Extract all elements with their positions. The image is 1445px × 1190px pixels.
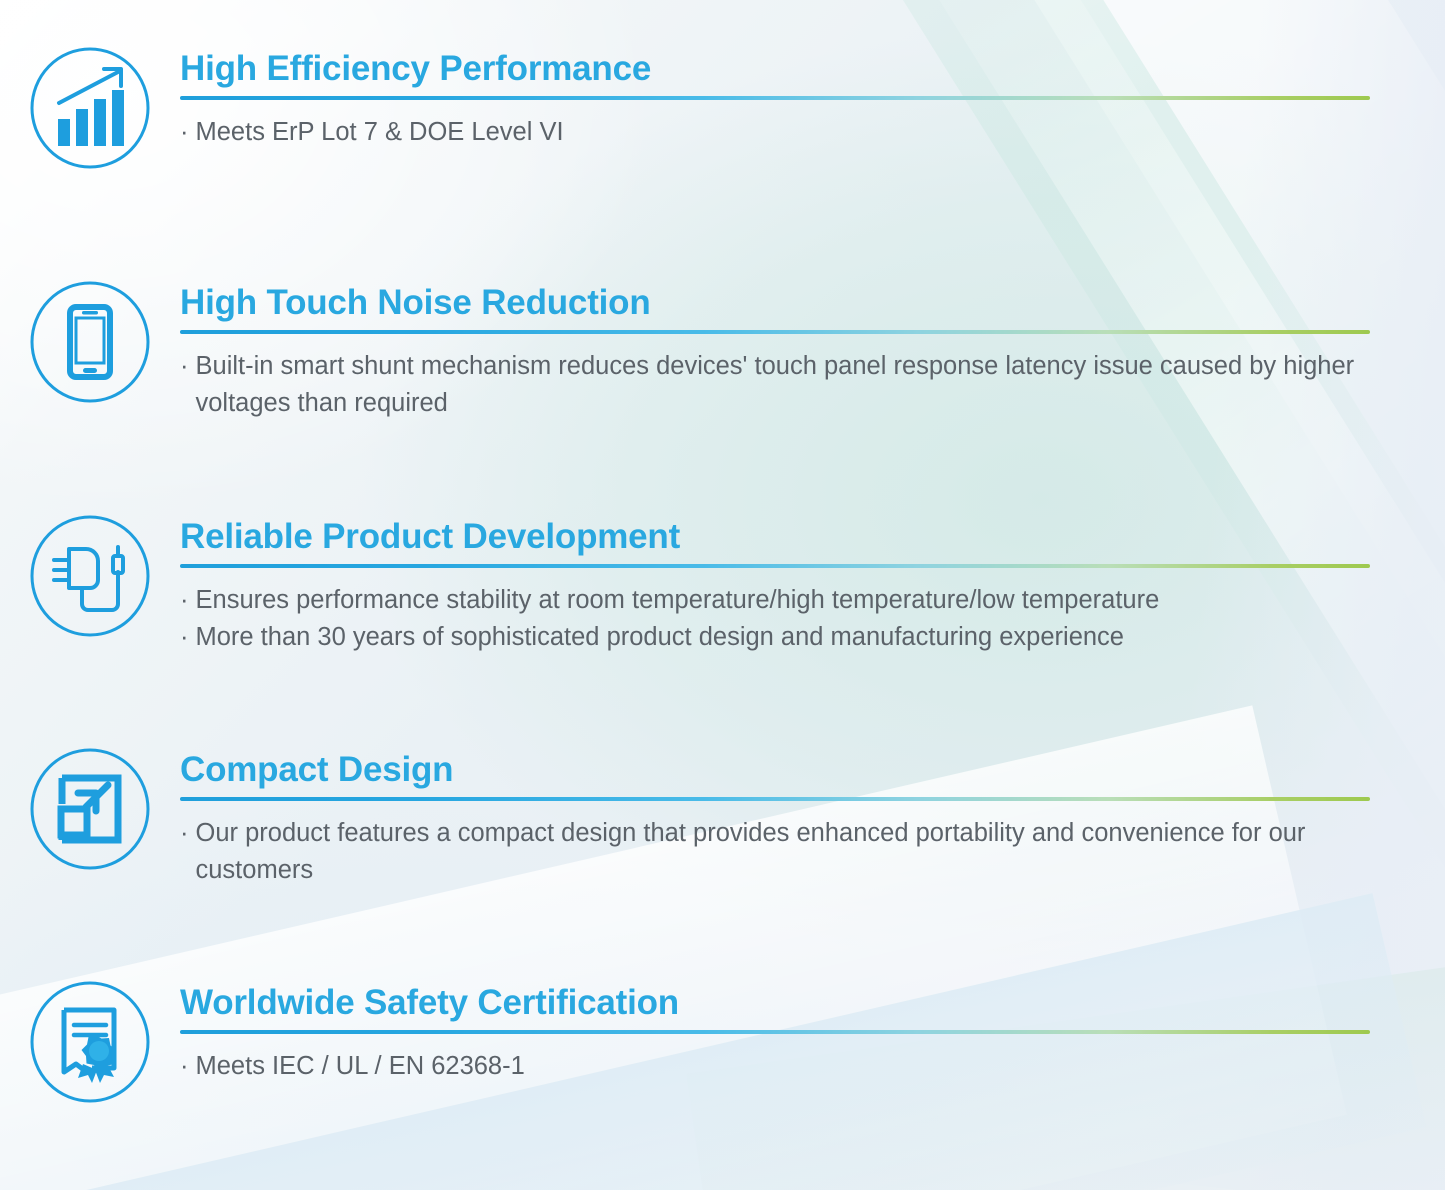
bullet-marker: · [180,582,189,619]
feature-bullets: · Built-in smart shunt mechanism reduces… [180,348,1370,421]
power-adapter-icon [28,514,152,638]
feature-body: Compact Design · Our product features a … [180,745,1445,888]
feature-bullet: · Ensures performance stability at room … [180,582,1370,619]
bullet-text: Ensures performance stability at room te… [196,582,1371,619]
bullet-marker: · [180,114,189,151]
feature-item-worldwide-safety-certification: Worldwide Safety Certification · Meets I… [0,978,1445,1104]
feature-bullet: · Built-in smart shunt mechanism reduces… [180,348,1370,421]
bullet-marker: · [180,619,189,656]
feature-body: Reliable Product Development · Ensures p… [180,512,1445,655]
feature-bullets: · Meets IEC / UL / EN 62368-1 [180,1048,1370,1085]
feature-infographic-page: High Efficiency Performance · Meets ErP … [0,0,1445,1190]
feature-item-reliable-product-development: Reliable Product Development · Ensures p… [0,512,1445,655]
feature-icon-wrap [0,278,180,404]
smartphone-icon [28,280,152,404]
feature-bullet: · Meets IEC / UL / EN 62368-1 [180,1048,1370,1085]
compact-resize-icon [28,747,152,871]
bullet-text: Meets IEC / UL / EN 62368-1 [196,1048,1371,1085]
feature-title: Worldwide Safety Certification [180,984,1370,1022]
feature-divider [180,96,1370,100]
feature-bullet: · More than 30 years of sophisticated pr… [180,619,1370,656]
feature-title: Reliable Product Development [180,518,1370,556]
feature-bullet: · Meets ErP Lot 7 & DOE Level VI [180,114,1370,151]
feature-bullets: · Our product features a compact design … [180,815,1370,888]
feature-title: High Touch Noise Reduction [180,284,1370,322]
bullet-marker: · [180,348,189,385]
feature-body: High Efficiency Performance · Meets ErP … [180,44,1445,151]
feature-bullets: · Meets ErP Lot 7 & DOE Level VI [180,114,1370,151]
feature-item-high-touch-noise-reduction: High Touch Noise Reduction · Built-in sm… [0,278,1445,421]
feature-bullet: · Our product features a compact design … [180,815,1370,888]
feature-body: High Touch Noise Reduction · Built-in sm… [180,278,1445,421]
bullet-text: More than 30 years of sophisticated prod… [196,619,1371,656]
feature-icon-wrap [0,745,180,871]
feature-icon-wrap [0,44,180,170]
bullet-text: Meets ErP Lot 7 & DOE Level VI [196,114,1371,151]
feature-icon-wrap [0,512,180,638]
bullet-text: Built-in smart shunt mechanism reduces d… [196,348,1371,421]
feature-bullets: · Ensures performance stability at room … [180,582,1370,655]
feature-divider [180,330,1370,334]
feature-divider [180,1030,1370,1034]
feature-title: Compact Design [180,751,1370,789]
feature-divider [180,564,1370,568]
feature-item-high-efficiency-performance: High Efficiency Performance · Meets ErP … [0,44,1445,170]
feature-icon-wrap [0,978,180,1104]
feature-divider [180,797,1370,801]
bar-chart-growth-icon [28,46,152,170]
feature-title: High Efficiency Performance [180,50,1370,88]
bullet-marker: · [180,815,189,852]
feature-item-compact-design: Compact Design · Our product features a … [0,745,1445,888]
feature-body: Worldwide Safety Certification · Meets I… [180,978,1445,1085]
certificate-award-icon [28,980,152,1104]
bullet-marker: · [180,1048,189,1085]
bullet-text: Our product features a compact design th… [196,815,1371,888]
